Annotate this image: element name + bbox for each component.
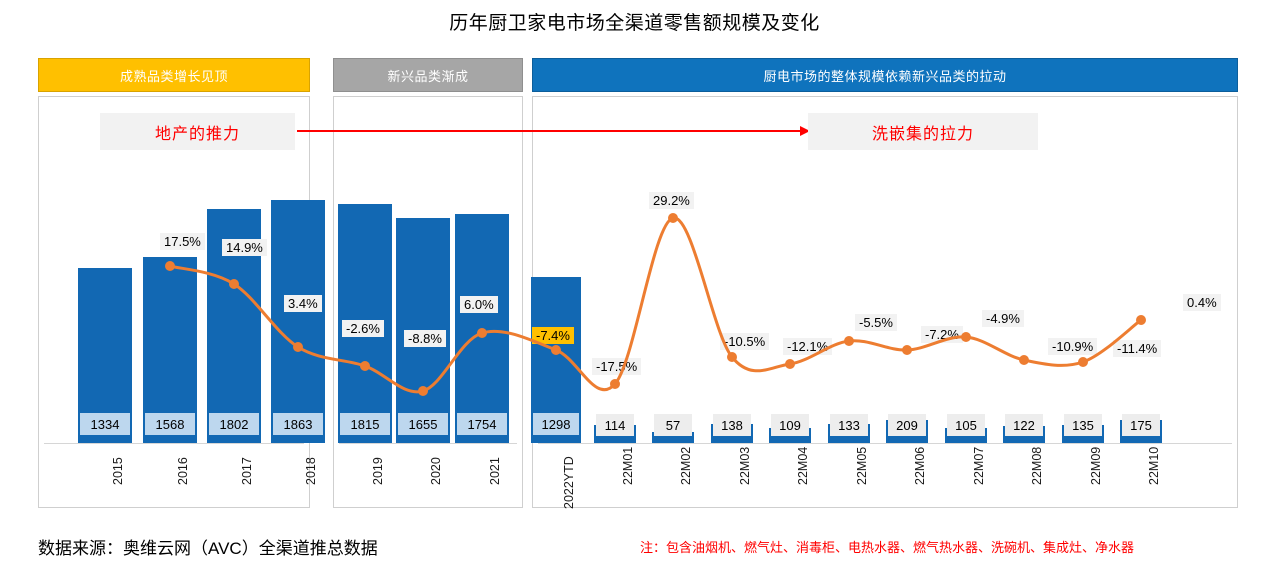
trend-marker bbox=[1078, 357, 1088, 367]
callout-left: 地产的推力 bbox=[100, 113, 295, 150]
callout-right: 洗嵌集的拉力 bbox=[808, 113, 1038, 150]
trend-marker bbox=[1019, 355, 1029, 365]
trend-marker bbox=[668, 213, 678, 223]
trend-line-layer bbox=[0, 0, 1269, 577]
trend-line bbox=[170, 218, 1141, 392]
trend-marker bbox=[551, 345, 561, 355]
trend-marker bbox=[1136, 315, 1146, 325]
trend-marker bbox=[961, 332, 971, 342]
annotation-arrow-line bbox=[297, 130, 803, 132]
trend-marker bbox=[477, 328, 487, 338]
trend-marker bbox=[165, 261, 175, 271]
chart-page: 历年厨卫家电市场全渠道零售额规模及变化 成熟品类增长见顶 新兴品类渐成 厨电市场… bbox=[0, 0, 1269, 577]
trend-marker bbox=[785, 359, 795, 369]
trend-marker bbox=[293, 342, 303, 352]
callout-right-label: 洗嵌集的拉力 bbox=[872, 120, 974, 144]
callout-left-label: 地产的推力 bbox=[155, 120, 240, 144]
trend-marker bbox=[902, 345, 912, 355]
trend-marker bbox=[844, 336, 854, 346]
trend-marker bbox=[418, 386, 428, 396]
trend-marker bbox=[360, 361, 370, 371]
trend-marker bbox=[727, 352, 737, 362]
trend-marker bbox=[610, 379, 620, 389]
trend-marker bbox=[229, 279, 239, 289]
